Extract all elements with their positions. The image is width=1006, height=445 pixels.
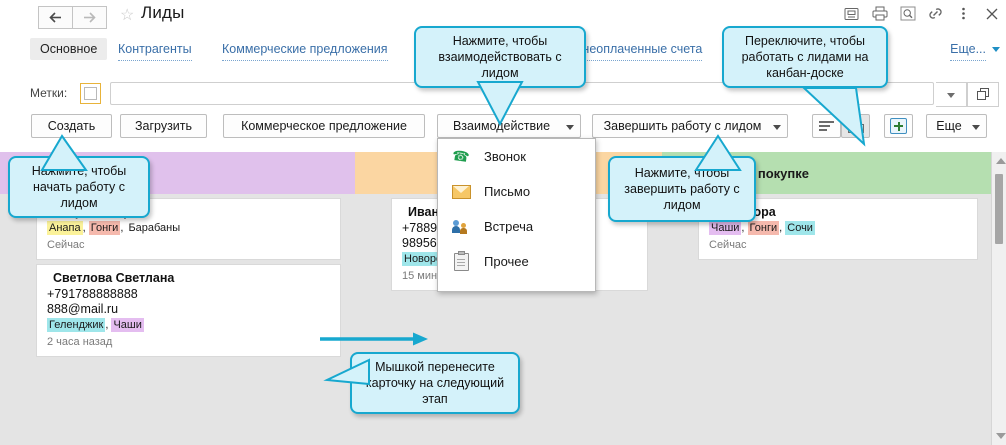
print-icon[interactable] bbox=[871, 5, 888, 22]
tags-filter-checkbox[interactable] bbox=[80, 83, 101, 104]
callout-tail-interaction bbox=[470, 80, 530, 126]
chevron-down-icon bbox=[566, 125, 574, 130]
lead-card-tags: Анапа, Гонги, Барабаны bbox=[47, 221, 330, 236]
chevron-down-icon bbox=[773, 125, 781, 130]
lead-card-contact: +791788888888 bbox=[47, 287, 330, 302]
page-title: Лиды bbox=[141, 3, 185, 23]
load-button[interactable]: Загрузить bbox=[120, 114, 207, 138]
callout-tail-drag bbox=[325, 358, 373, 394]
tags-filter-open-icon[interactable] bbox=[967, 82, 999, 107]
kanban-column-0[interactable]: Петров ПетрАнапа, Гонги, БарабаныСейчасС… bbox=[36, 198, 341, 445]
lead-card-time: Сейчас bbox=[709, 239, 967, 251]
tab-osnovnoe[interactable]: Основное bbox=[30, 38, 107, 60]
mail-icon bbox=[452, 185, 471, 199]
menu-item-icon bbox=[438, 253, 484, 271]
callout-interaction: Нажмите, чтобы взаимодействовать с лидом bbox=[414, 26, 586, 88]
tags-filter-label: Метки: bbox=[30, 86, 67, 100]
navigation-buttons bbox=[38, 6, 107, 29]
more-button-label: Еще bbox=[936, 119, 961, 133]
phone-icon: ☎ bbox=[451, 147, 471, 166]
kebab-menu-icon[interactable] bbox=[955, 5, 972, 22]
tab-neoplachennye-scheta[interactable]: е неоплаченные счета bbox=[572, 38, 702, 61]
menu-item-3[interactable]: Прочее bbox=[438, 244, 595, 279]
tab-more-link[interactable]: Еще... bbox=[950, 38, 986, 61]
callout-tail-finish bbox=[690, 134, 746, 176]
callout-tail-kanban-toggle bbox=[800, 86, 890, 146]
interaction-dropdown-menu: ☎ЗвонокПисьмоВстречаПрочее bbox=[437, 138, 596, 292]
save-icon[interactable] bbox=[843, 5, 860, 22]
lead-card-time: Сейчас bbox=[47, 239, 330, 251]
lead-card[interactable]: Светлова Светлана+791788888888888@mail.r… bbox=[36, 264, 341, 357]
menu-item-icon bbox=[438, 185, 484, 199]
lead-tag: Геленджик bbox=[47, 318, 105, 332]
scroll-down-arrow-icon[interactable] bbox=[996, 433, 1006, 439]
lead-card-tags: Геленджик, Чаши bbox=[47, 318, 330, 333]
meeting-icon bbox=[452, 220, 470, 234]
callout-tail-create bbox=[40, 134, 90, 176]
menu-item-label: Звонок bbox=[484, 149, 526, 164]
favorite-star-icon[interactable]: ☆ bbox=[120, 8, 134, 24]
lead-tag: Гонги bbox=[748, 221, 780, 235]
lead-card-tags: Чаши, Гонги, Сочи bbox=[709, 221, 967, 236]
chevron-down-icon bbox=[972, 125, 980, 130]
commercial-offer-button[interactable]: Коммерческое предложение bbox=[223, 114, 425, 138]
menu-item-0[interactable]: ☎Звонок bbox=[438, 139, 595, 174]
scroll-up-arrow-icon[interactable] bbox=[996, 158, 1006, 164]
lead-tag: Анапа bbox=[47, 221, 83, 235]
clipboard-icon bbox=[454, 253, 469, 271]
close-icon[interactable] bbox=[983, 5, 1000, 22]
chevron-down-icon[interactable] bbox=[992, 47, 1000, 52]
forward-button[interactable] bbox=[72, 6, 107, 29]
lead-tag: Сочи bbox=[785, 221, 815, 235]
callout-kanban-toggle: Переключите, чтобы работать с лидами на … bbox=[722, 26, 888, 88]
lead-tag: Барабаны bbox=[126, 221, 182, 235]
more-button[interactable]: Еще bbox=[926, 114, 987, 138]
lead-card-contact: 888@mail.ru bbox=[47, 302, 330, 317]
menu-item-label: Письмо bbox=[484, 184, 530, 199]
window-system-icons bbox=[843, 5, 1000, 22]
lead-tag: Гонги bbox=[89, 221, 121, 235]
lead-tag: Чаши bbox=[709, 221, 741, 235]
lead-tag: Чаши bbox=[111, 318, 143, 332]
menu-item-1[interactable]: Письмо bbox=[438, 174, 595, 209]
tags-filter-dropdown-button[interactable] bbox=[936, 82, 967, 107]
drag-hint-arrow-icon bbox=[318, 330, 438, 353]
tab-kommercheskie-predlozheniya[interactable]: Коммерческие предложения bbox=[222, 38, 388, 61]
scrollbar-thumb[interactable] bbox=[995, 174, 1003, 244]
menu-item-icon bbox=[438, 220, 484, 234]
lead-card-time: 2 часа назад bbox=[47, 336, 330, 348]
kanban-column-2[interactable]: ЭлеонораЧаши, Гонги, СочиСейчас bbox=[698, 198, 978, 445]
menu-item-label: Встреча bbox=[484, 219, 533, 234]
link-icon[interactable] bbox=[927, 5, 944, 22]
menu-item-label: Прочее bbox=[484, 254, 529, 269]
menu-item-2[interactable]: Встреча bbox=[438, 209, 595, 244]
back-button[interactable] bbox=[38, 6, 72, 29]
finish-lead-button-label: Завершить работу с лидом bbox=[604, 119, 762, 133]
search-icon[interactable] bbox=[899, 5, 916, 22]
kanban-vertical-scrollbar[interactable] bbox=[991, 152, 1006, 445]
add-plus-icon bbox=[890, 118, 907, 134]
menu-item-icon: ☎ bbox=[438, 148, 484, 165]
callout-drag: Мышкой перенесите карточку на следующий … bbox=[350, 352, 520, 414]
lead-card-name: Светлова Светлана bbox=[47, 271, 330, 285]
tab-kontragenty[interactable]: Контрагенты bbox=[118, 38, 192, 61]
